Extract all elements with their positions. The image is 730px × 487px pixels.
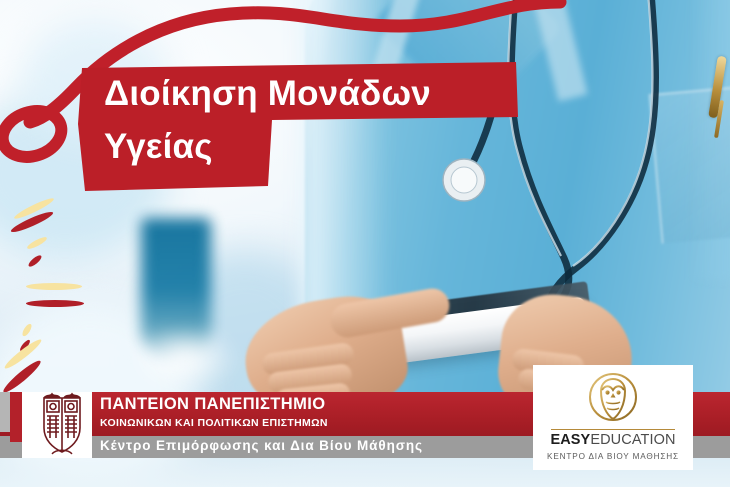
partner-tagline: ΚΕΝΤΡΟ ΔΙΑ ΒΙΟΥ ΜΑΘΗΣΗΣ [533,452,693,461]
university-subtitle: ΚΟΙΝΩΝΙΚΩΝ ΚΑΙ ΠΟΛΙΤΙΚΩΝ ΕΠΙΣΤΗΜΩΝ [100,417,328,429]
partner-brand-bold: EASY [550,432,590,448]
brush-stroke-red [26,300,84,307]
brush-stroke-yellow [26,283,82,290]
partner-brand-name: EASYEDUCATION [533,432,693,448]
course-promo-banner: Διοίκηση Μονάδων Υγείας [0,0,730,487]
title-banner [0,0,730,200]
partner-logo-card: EASYEDUCATION ΚΕΝΤΡΟ ΔΙΑ ΒΙΟΥ ΜΑΘΗΣΗΣ [533,365,693,470]
partner-brand-light: EDUCATION [590,432,675,448]
logo-divider [551,429,675,430]
panteion-crest-icon [40,388,84,460]
lifelong-learning-center-name: Κέντρο Επιμόρφωσης και Δια Βίου Μάθησης [100,438,423,453]
owl-icon [583,371,643,427]
university-name: ΠΑΝΤΕΙΟΝ ΠΑΝΕΠΙΣΤΗΜΙΟ [100,395,325,414]
